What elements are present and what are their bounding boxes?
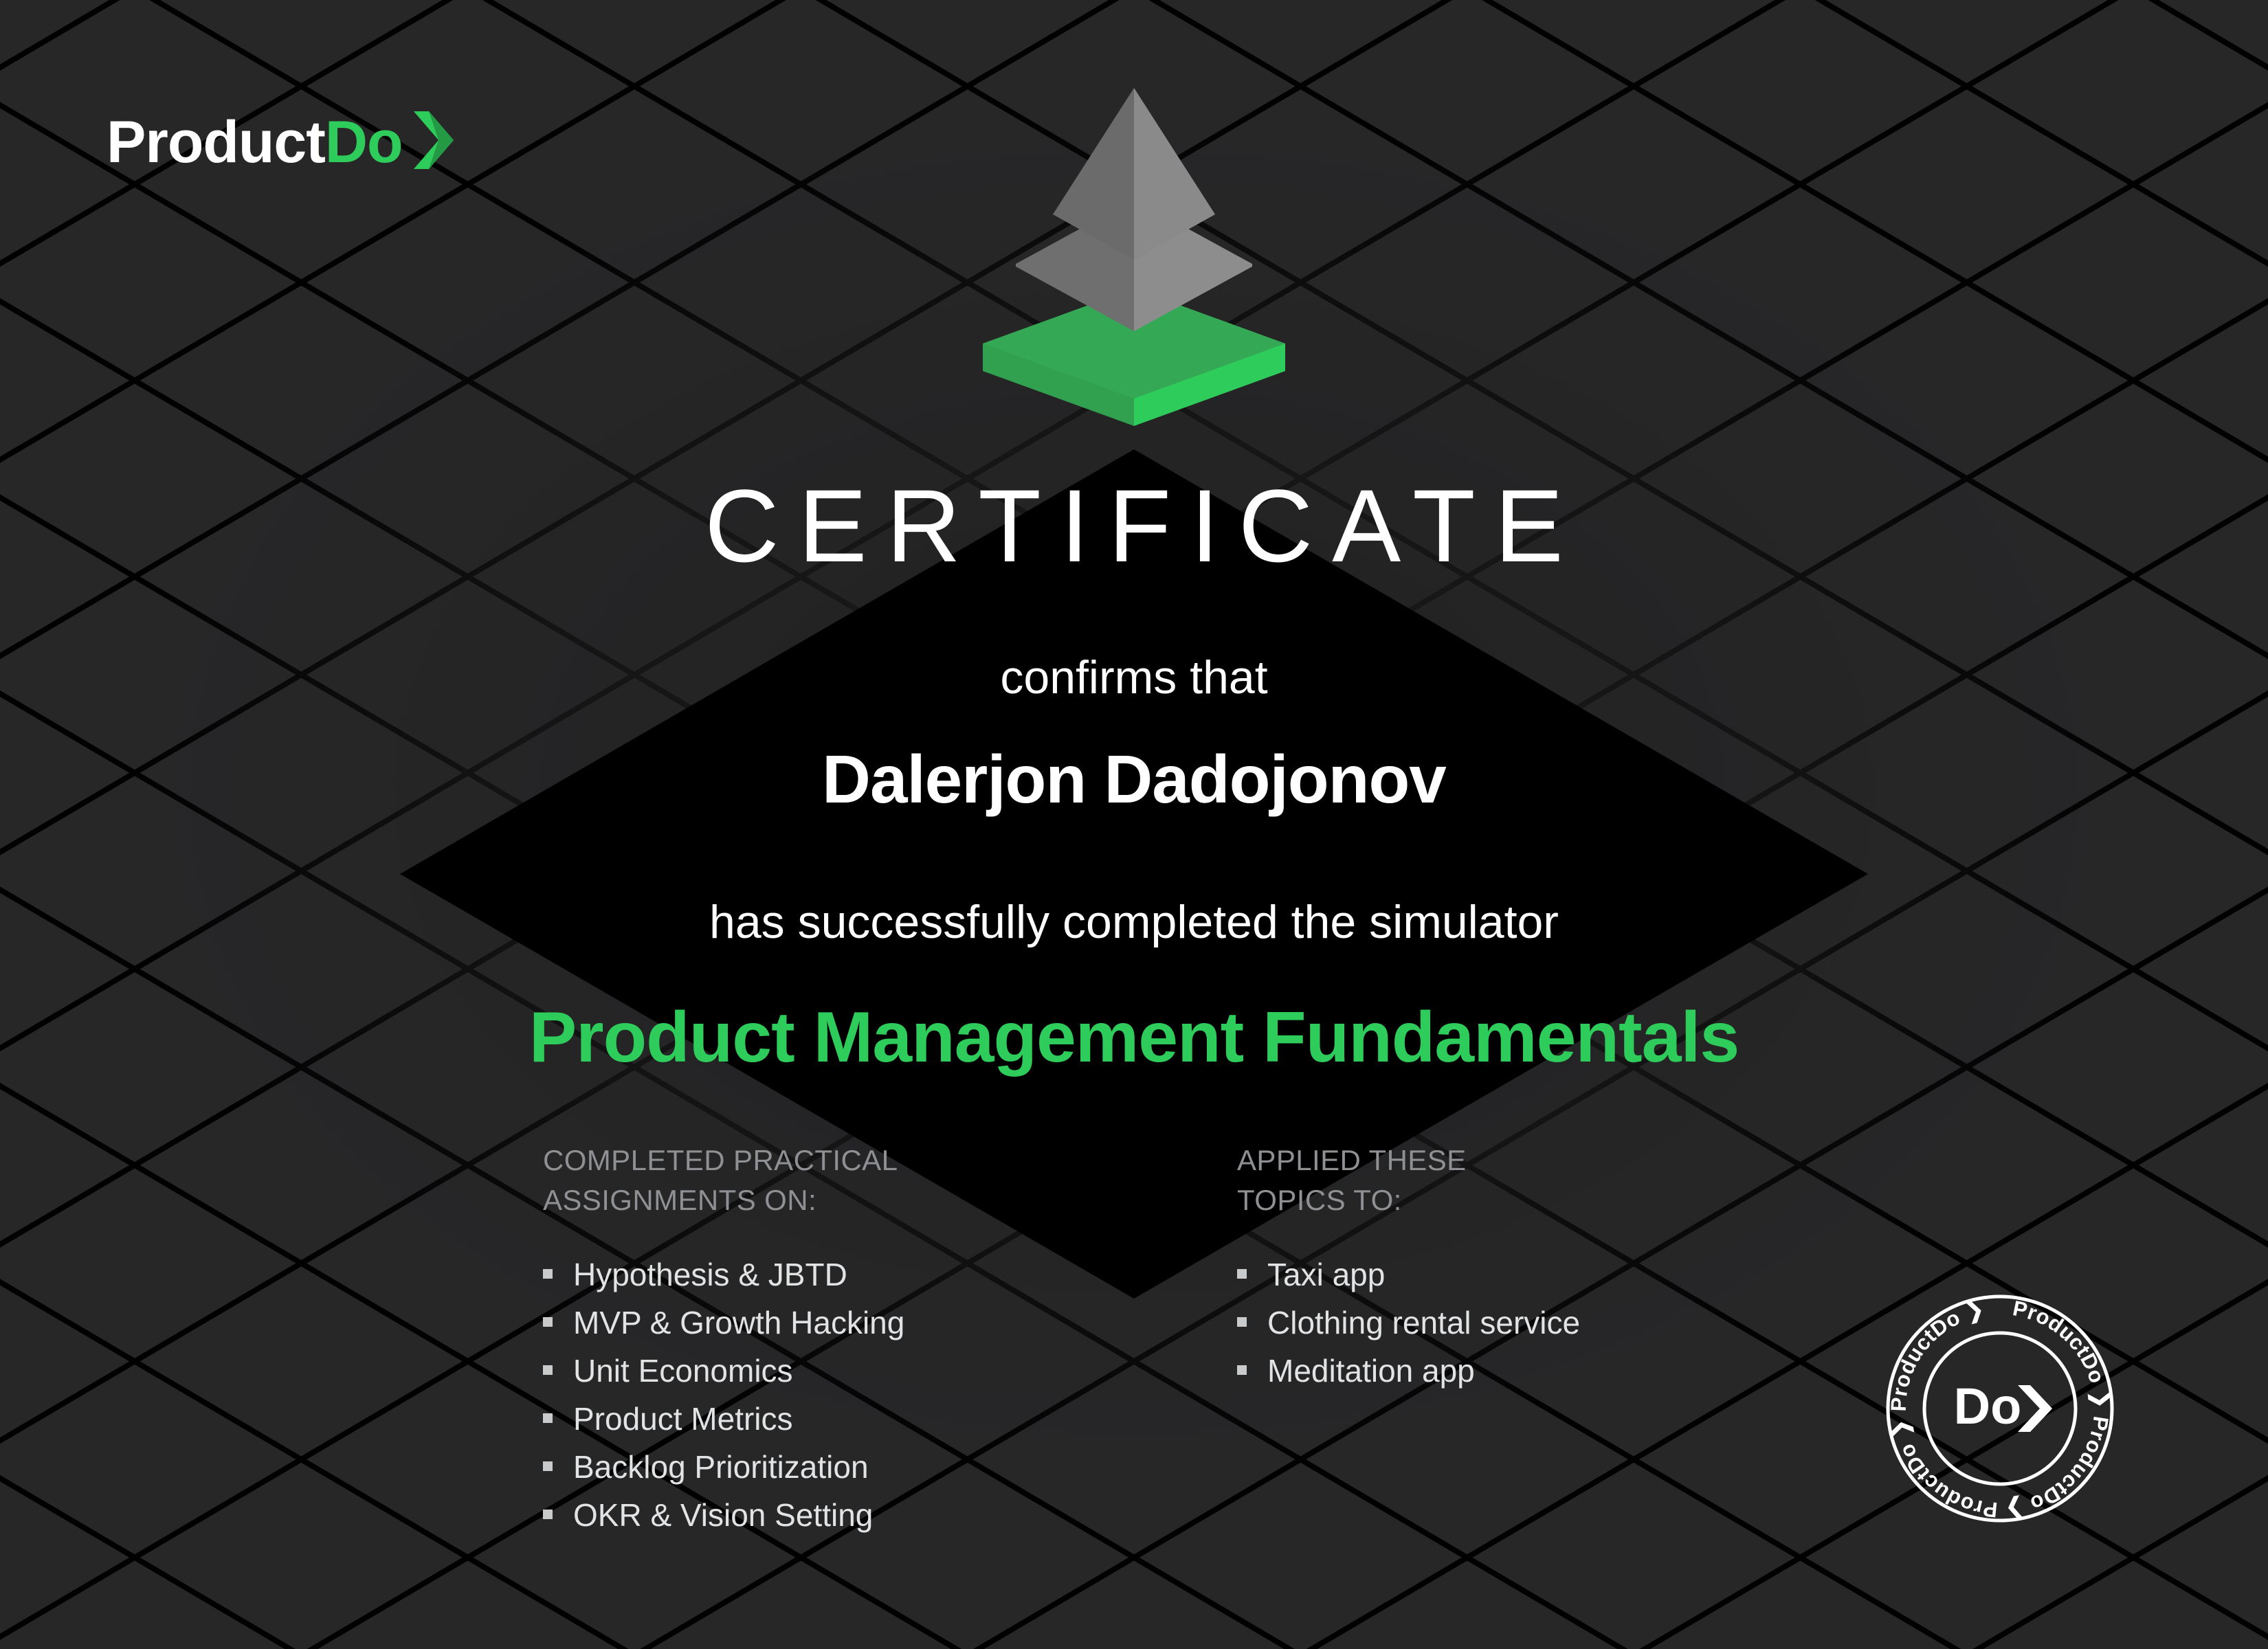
- list-item-label: Product Metrics: [573, 1403, 793, 1435]
- logo-text-product: Product: [107, 113, 325, 172]
- list-item: Taxi app: [1237, 1259, 1856, 1290]
- page-title: CERTIFICATE: [0, 474, 2268, 577]
- square-bullet-icon: [543, 1461, 553, 1471]
- recipient-name: Dalerjon Dadojonov: [0, 745, 2268, 813]
- list-item-label: Hypothesis & JBTD: [573, 1259, 847, 1290]
- list-item-label: Taxi app: [1267, 1259, 1385, 1290]
- list-item: OKR & Vision Setting: [543, 1499, 1161, 1531]
- list-item-label: Unit Economics: [573, 1355, 793, 1387]
- column-applied-topics: APPLIED THESE TOPICS TO: Taxi app Clothi…: [1237, 1141, 1856, 1403]
- brand-seal: ProductDo ❯ ProductDo ❯ ProductDo ❯ Prod…: [1883, 1292, 2117, 1525]
- chevron-right-icon: [408, 109, 459, 175]
- square-bullet-icon: [543, 1413, 553, 1423]
- list-item-label: Backlog Prioritization: [573, 1451, 869, 1483]
- seal-center-text: Do: [1954, 1378, 2022, 1435]
- square-bullet-icon: [1237, 1269, 1247, 1279]
- square-bullet-icon: [543, 1510, 553, 1519]
- logo-text-do: Do: [325, 113, 403, 172]
- list-item: Product Metrics: [543, 1403, 1161, 1435]
- list-item: Clothing rental service: [1237, 1307, 1856, 1338]
- assignments-list: Hypothesis & JBTD MVP & Growth Hacking U…: [543, 1259, 1161, 1531]
- square-bullet-icon: [543, 1317, 553, 1327]
- completion-line: has successfully completed the simulator: [0, 899, 2268, 945]
- list-item-label: MVP & Growth Hacking: [573, 1307, 904, 1338]
- column-applied-heading: APPLIED THESE TOPICS TO:: [1237, 1141, 1856, 1220]
- column-assignments-heading: COMPLETED PRACTICAL ASSIGNMENTS ON:: [543, 1141, 1161, 1220]
- pyramid-emblem: [976, 82, 1292, 447]
- square-bullet-icon: [543, 1365, 553, 1375]
- square-bullet-icon: [1237, 1365, 1247, 1375]
- certificate-canvas: Product Do: [0, 0, 2268, 1649]
- confirms-line: confirms that: [0, 654, 2268, 701]
- square-bullet-icon: [1237, 1317, 1247, 1327]
- list-item: MVP & Growth Hacking: [543, 1307, 1161, 1338]
- square-bullet-icon: [543, 1269, 553, 1279]
- applied-topics-list: Taxi app Clothing rental service Meditat…: [1237, 1259, 1856, 1387]
- list-item: Unit Economics: [543, 1355, 1161, 1387]
- column-assignments: COMPLETED PRACTICAL ASSIGNMENTS ON: Hypo…: [543, 1141, 1161, 1547]
- list-item-label: Clothing rental service: [1267, 1307, 1580, 1338]
- list-item-label: OKR & Vision Setting: [573, 1499, 873, 1531]
- seal-center-mark: Do: [1954, 1378, 2052, 1435]
- course-title: Product Management Fundamentals: [0, 1002, 2268, 1073]
- list-item: Meditation app: [1237, 1355, 1856, 1387]
- list-item-label: Meditation app: [1267, 1355, 1475, 1387]
- list-item: Backlog Prioritization: [543, 1451, 1161, 1483]
- brand-logo[interactable]: Product Do: [107, 109, 459, 175]
- list-item: Hypothesis & JBTD: [543, 1259, 1161, 1290]
- chevron-right-icon: [2018, 1385, 2052, 1432]
